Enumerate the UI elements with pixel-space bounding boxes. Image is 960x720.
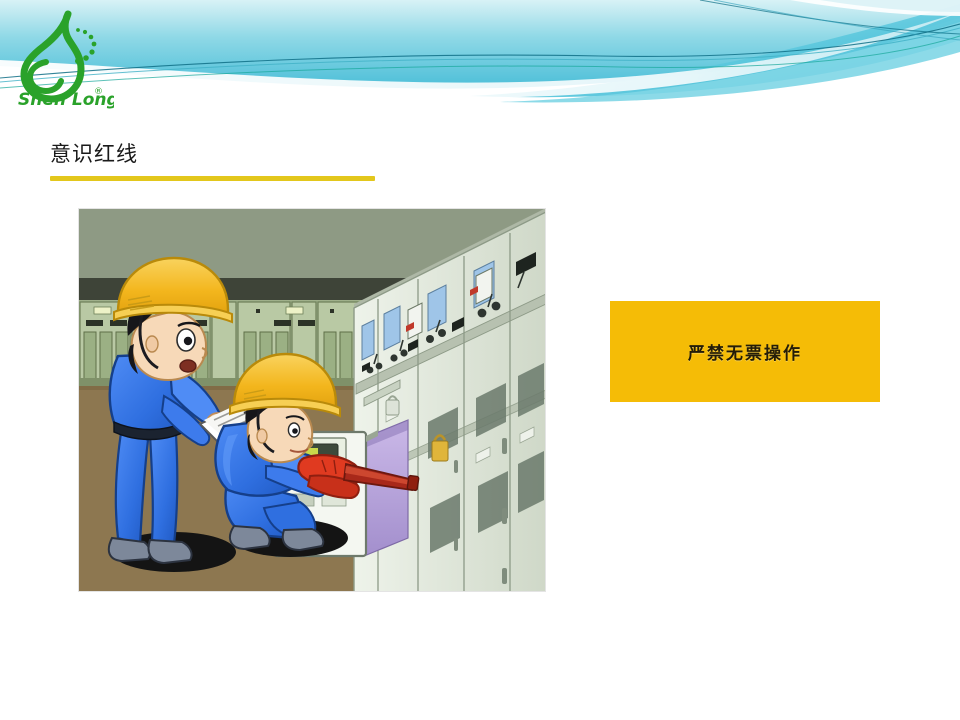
- safety-illustration-graphic: [78, 208, 546, 592]
- decorative-header-banner: [0, 0, 960, 118]
- warning-callout-text: 严禁无票操作: [688, 339, 802, 364]
- logo-trademark-symbol: ®: [94, 87, 103, 97]
- banner-graphic: [0, 0, 960, 118]
- presentation-slide: Shen Long ® 意识红线: [0, 0, 960, 720]
- slide-title-underline: [50, 176, 375, 181]
- warning-callout-box: 严禁无票操作: [610, 301, 880, 402]
- stars-arc: [75, 28, 96, 64]
- shen-long-logo: Shen Long ®: [6, 4, 114, 112]
- slide-title-text: 意识红线: [50, 140, 380, 168]
- slide-title: 意识红线: [50, 140, 380, 168]
- safety-illustration: [78, 208, 546, 592]
- faint-watermark: [770, 588, 865, 616]
- logo-graphic: Shen Long ®: [6, 4, 114, 112]
- droplet-inner-curve: [30, 62, 61, 91]
